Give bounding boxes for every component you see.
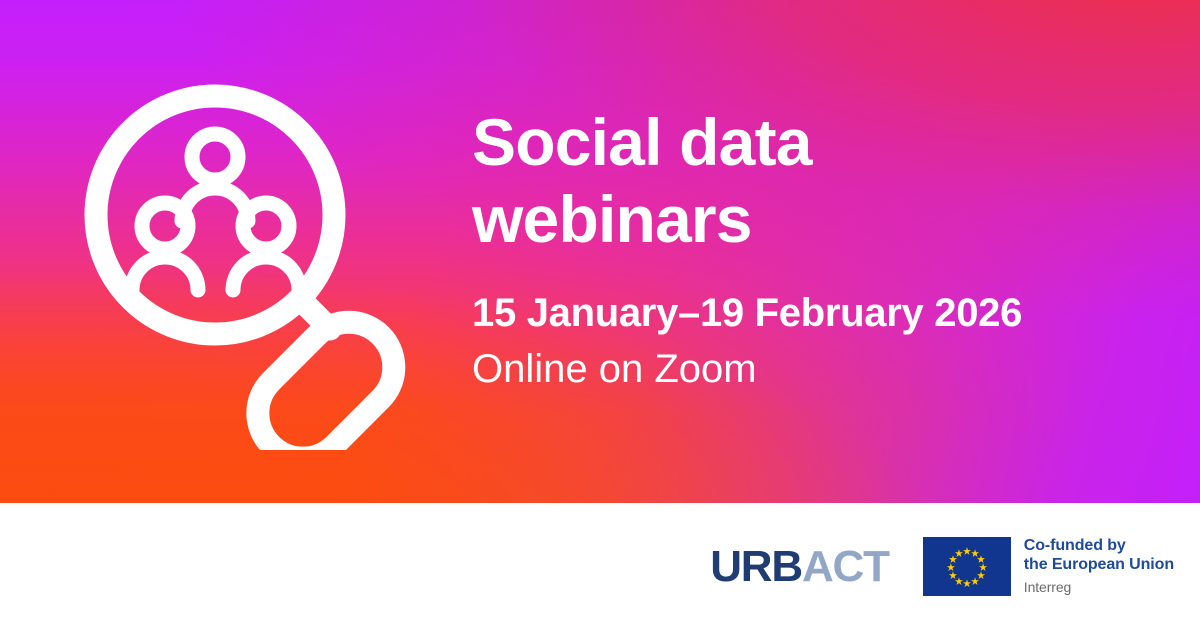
urbact-logo: URB ACT [710, 545, 889, 589]
urbact-logo-part-one: URB [710, 545, 802, 589]
urbact-logo-part-two: ACT [802, 545, 889, 589]
eu-funding-main-text: Co-funded by the European Union [1024, 537, 1174, 574]
footer-logo-strip: URB ACT [0, 503, 1200, 630]
banner-headline: Social data webinars [472, 104, 1172, 257]
event-banner: Social data webinars 15 January–19 Febru… [0, 0, 1200, 630]
banner-copy: Social data webinars 15 January–19 Febru… [472, 104, 1172, 392]
eu-funding-lockup: Co-funded by the European Union Interreg [923, 537, 1174, 596]
eu-funding-text: Co-funded by the European Union Interreg [1024, 537, 1174, 595]
banner-dates: 15 January–19 February 2026 [472, 291, 1172, 335]
person-icon-left [132, 203, 198, 290]
european-union-flag [923, 537, 1011, 596]
magnifier-people-icon [78, 78, 438, 450]
person-icon-right [233, 203, 299, 290]
eu-funding-programme-name: Interreg [1024, 579, 1174, 595]
person-icon-top [182, 134, 248, 221]
banner-platform: Online on Zoom [472, 347, 1172, 392]
